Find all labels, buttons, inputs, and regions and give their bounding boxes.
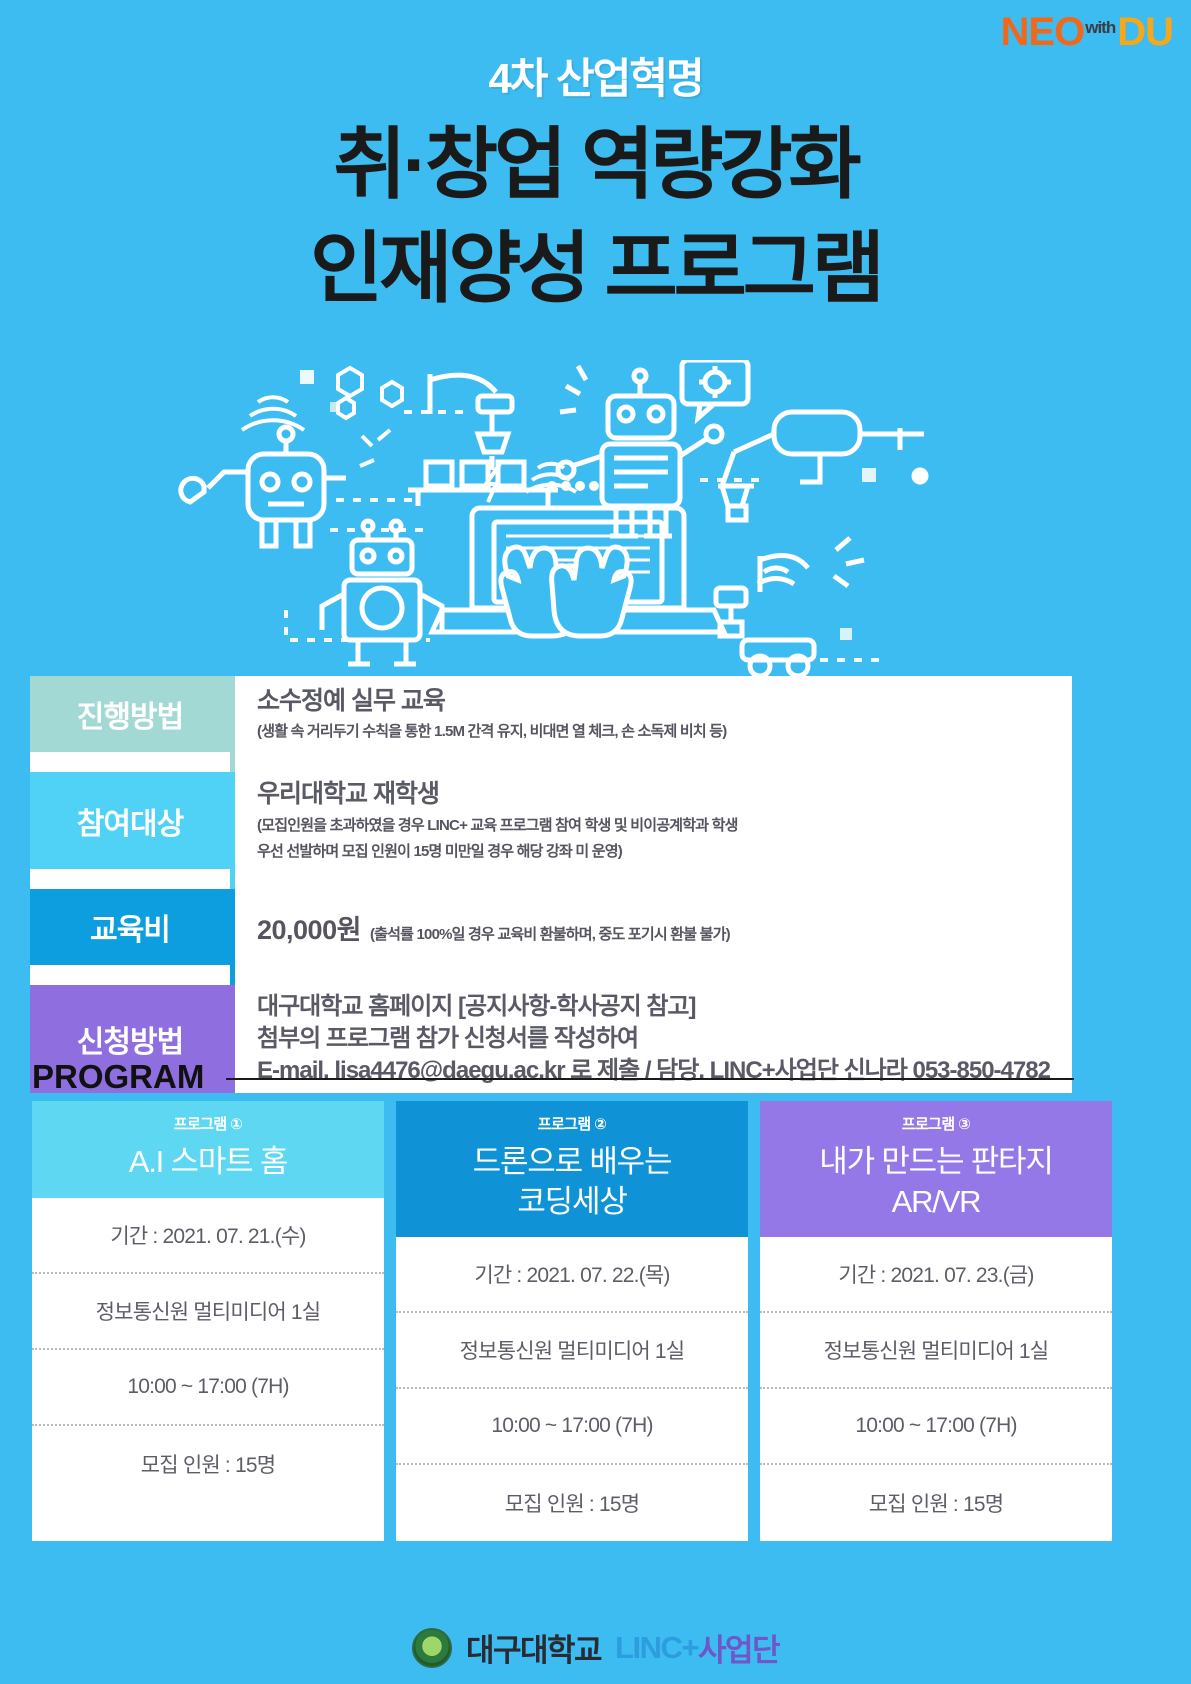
info-apply-line-1: 대구대학교 홈페이지 [공지사항-학사공지 참고] [257, 991, 1060, 1023]
poster-root: NEO with DU 4차 산업혁명 취·창업 역량강화 인재양성 프로그램 [0, 0, 1191, 1684]
info-row-method: 진행방법 소수정예 실무 교육 (생활 속 거리두기 수칙을 통한 1.5M 간… [30, 676, 1072, 752]
neo-with-du-logo: NEO with DU [1001, 12, 1173, 52]
info-spacer-left-1 [30, 752, 230, 772]
program-card-3-place: 정보통신원 멀티미디어 1실 [760, 1313, 1112, 1389]
info-heading-target: 우리대학교 재학생 [257, 778, 1060, 811]
program-card-1-name: A.I 스마트 홈 [42, 1142, 374, 1182]
headline-kicker: 4차 산업혁명 [0, 58, 1191, 100]
info-spacer-left-3 [30, 965, 230, 985]
footer-university-name: 대구대학교 [466, 1625, 601, 1670]
program-card-1-period: 기간 : 2021. 07. 21.(수) [32, 1198, 384, 1274]
info-label-target: 참여대상 [30, 772, 230, 869]
info-panel: 진행방법 소수정예 실무 교육 (생활 속 거리두기 수칙을 통한 1.5M 간… [30, 676, 1072, 1093]
info-fee-note: (출석률 100%일 경우 교육비 환불하며, 중도 포기시 환불 불가) [370, 923, 730, 944]
program-card-3-time: 10:00 ~ 17:00 (7H) [760, 1389, 1112, 1465]
footer-linc-logo: LINC + 사업단 [615, 1625, 779, 1670]
headline-block: 4차 산업혁명 취·창업 역량강화 인재양성 프로그램 [0, 58, 1191, 310]
info-spacer-left-2 [30, 869, 230, 889]
info-fee-line: 20,000원 (출석률 100%일 경우 교육비 환불하며, 중도 포기시 환… [257, 908, 1060, 947]
info-row-fee: 교육비 20,000원 (출석률 100%일 경우 교육비 환불하며, 중도 포… [30, 889, 1072, 965]
university-emblem-icon [412, 1628, 452, 1668]
info-body-target: 우리대학교 재학생 (모집인원을 초과하였을 경우 LINC+ 교육 프로그램 … [230, 772, 1072, 869]
info-spacer-right-1 [230, 752, 1072, 772]
footer-linc-group: 사업단 [698, 1625, 779, 1670]
footer-logos: 대구대학교 LINC + 사업단 [0, 1625, 1191, 1670]
program-card-3-header: 프로그램 ③ 내가 만드는 판타지 AR/VR [760, 1101, 1112, 1237]
program-card-3-period: 기간 : 2021. 07. 23.(금) [760, 1237, 1112, 1313]
program-card-3-capacity: 모집 인원 : 15명 [760, 1465, 1112, 1541]
program-card-2-capacity: 모집 인원 : 15명 [396, 1465, 748, 1541]
program-card-1-place: 정보통신원 멀티미디어 1실 [32, 1274, 384, 1350]
program-card-3-name: 내가 만드는 판타지 [770, 1142, 1102, 1182]
program-card-2-name: 드론으로 배우는 [406, 1142, 738, 1182]
logo-with-text: with [1085, 19, 1115, 36]
logo-neo-text: NEO [1001, 12, 1085, 52]
info-spacer-right-3 [230, 965, 1072, 985]
program-card-1-body: 기간 : 2021. 07. 21.(수) 정보통신원 멀티미디어 1실 10:… [32, 1198, 384, 1502]
program-card-1-capacity: 모집 인원 : 15명 [32, 1426, 384, 1502]
info-spacer-1 [30, 752, 1072, 772]
info-fee-amount: 20,000원 [257, 908, 361, 947]
robot-automation-illustration [0, 360, 1191, 680]
program-card-2[interactable]: 프로그램 ② 드론으로 배우는 코딩세상 기간 : 2021. 07. 22.(… [396, 1101, 748, 1541]
program-card-2-period: 기간 : 2021. 07. 22.(목) [396, 1237, 748, 1313]
program-card-2-name-2: 코딩세상 [406, 1182, 738, 1222]
program-card-1-time: 10:00 ~ 17:00 (7H) [32, 1350, 384, 1426]
footer-linc-plus: + [681, 1630, 698, 1666]
program-card-1-header: 프로그램 ① A.I 스마트 홈 [32, 1101, 384, 1198]
info-spacer-2 [30, 869, 1072, 889]
headline-line-2: 인재양성 프로그램 [0, 226, 1191, 310]
program-card-list: 프로그램 ① A.I 스마트 홈 기간 : 2021. 07. 21.(수) 정… [32, 1101, 1160, 1541]
footer-linc-text: LINC [615, 1630, 681, 1666]
program-card-3[interactable]: 프로그램 ③ 내가 만드는 판타지 AR/VR 기간 : 2021. 07. 2… [760, 1101, 1112, 1541]
program-card-1[interactable]: 프로그램 ① A.I 스마트 홈 기간 : 2021. 07. 21.(수) 정… [32, 1101, 384, 1541]
program-card-3-body: 기간 : 2021. 07. 23.(금) 정보통신원 멀티미디어 1실 10:… [760, 1237, 1112, 1541]
program-section-title: PROGRAM [32, 1058, 204, 1096]
info-sub-target-1: (모집인원을 초과하였을 경우 LINC+ 교육 프로그램 참여 학생 및 비이… [257, 814, 1060, 837]
info-row-target: 참여대상 우리대학교 재학생 (모집인원을 초과하였을 경우 LINC+ 교육 … [30, 772, 1072, 869]
program-card-1-kicker: 프로그램 ① [42, 1113, 374, 1134]
info-sub-method-1: (생활 속 거리두기 수칙을 통한 1.5M 간격 유지, 비대면 열 체크, … [257, 720, 1060, 743]
info-apply-line-2: 첨부의 프로그램 참가 신청서를 작성하여 [257, 1023, 1060, 1055]
info-heading-method: 소수정예 실무 교육 [257, 685, 1060, 718]
info-spacer-right-2 [230, 869, 1072, 889]
program-card-2-header: 프로그램 ② 드론으로 배우는 코딩세상 [396, 1101, 748, 1237]
program-section-rule [226, 1078, 1074, 1080]
program-card-3-name-2: AR/VR [770, 1182, 1102, 1222]
program-card-2-time: 10:00 ~ 17:00 (7H) [396, 1389, 748, 1465]
info-body-method: 소수정예 실무 교육 (생활 속 거리두기 수칙을 통한 1.5M 간격 유지,… [230, 676, 1072, 752]
info-sub-target-2: 우선 선발하며 모집 인원이 15명 미만일 경우 해당 강좌 미 운영) [257, 840, 1060, 863]
headline-line-1: 취·창업 역량강화 [0, 122, 1191, 206]
program-card-3-kicker: 프로그램 ③ [770, 1113, 1102, 1134]
info-label-fee: 교육비 [30, 889, 230, 965]
program-card-2-kicker: 프로그램 ② [406, 1113, 738, 1134]
info-label-method: 진행방법 [30, 676, 230, 752]
program-card-2-body: 기간 : 2021. 07. 22.(목) 정보통신원 멀티미디어 1실 10:… [396, 1237, 748, 1541]
program-section-header: PROGRAM [32, 1058, 1074, 1096]
info-spacer-3 [30, 965, 1072, 985]
program-card-2-place: 정보통신원 멀티미디어 1실 [396, 1313, 748, 1389]
info-body-fee: 20,000원 (출석률 100%일 경우 교육비 환불하며, 중도 포기시 환… [230, 889, 1072, 965]
logo-du-text: DU [1117, 12, 1173, 52]
